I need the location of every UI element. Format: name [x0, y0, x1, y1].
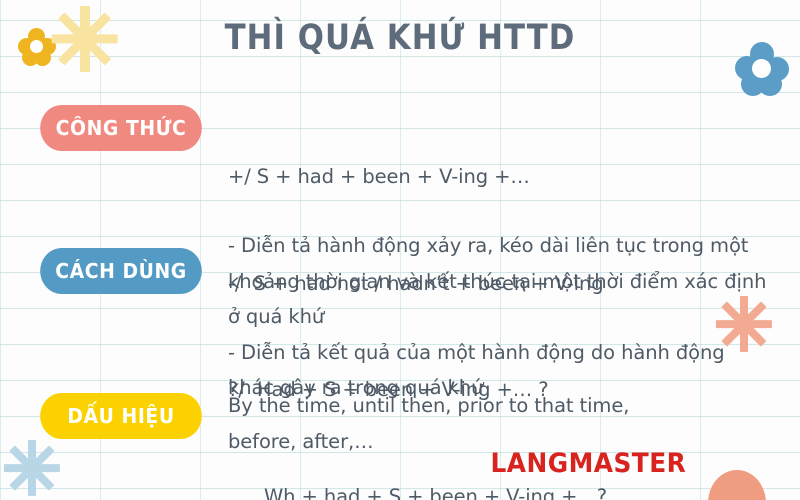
grammar-infographic-poster: THÌ QUÁ KHỨ HTTD CÔNG THỨC +/ S + had + … — [0, 0, 800, 500]
section-badge-formula-label: CÔNG THỨC — [56, 116, 187, 140]
section-badge-signal: DẤU HIỆU — [40, 393, 202, 439]
brand-logo-langmaster: LANGMASTER — [491, 448, 687, 479]
section-badge-formula: CÔNG THỨC — [40, 105, 202, 151]
formula-line-wh-question: Wh + had + S + been + V-ing +…? — [228, 479, 788, 500]
formula-line-affirmative: +/ S + had + been + V-ing +… — [228, 159, 788, 195]
section-badge-signal-label: DẤU HIỆU — [67, 404, 174, 428]
page-title: THÌ QUÁ KHỨ HTTD — [48, 18, 752, 58]
section-badge-usage: CÁCH DÙNG — [40, 248, 202, 294]
section-badge-usage-label: CÁCH DÙNG — [55, 259, 187, 283]
sparkle-icon-blue — [4, 440, 60, 496]
usage-content: - Diễn tả hành động xảy ra, kéo dài liên… — [228, 228, 768, 406]
